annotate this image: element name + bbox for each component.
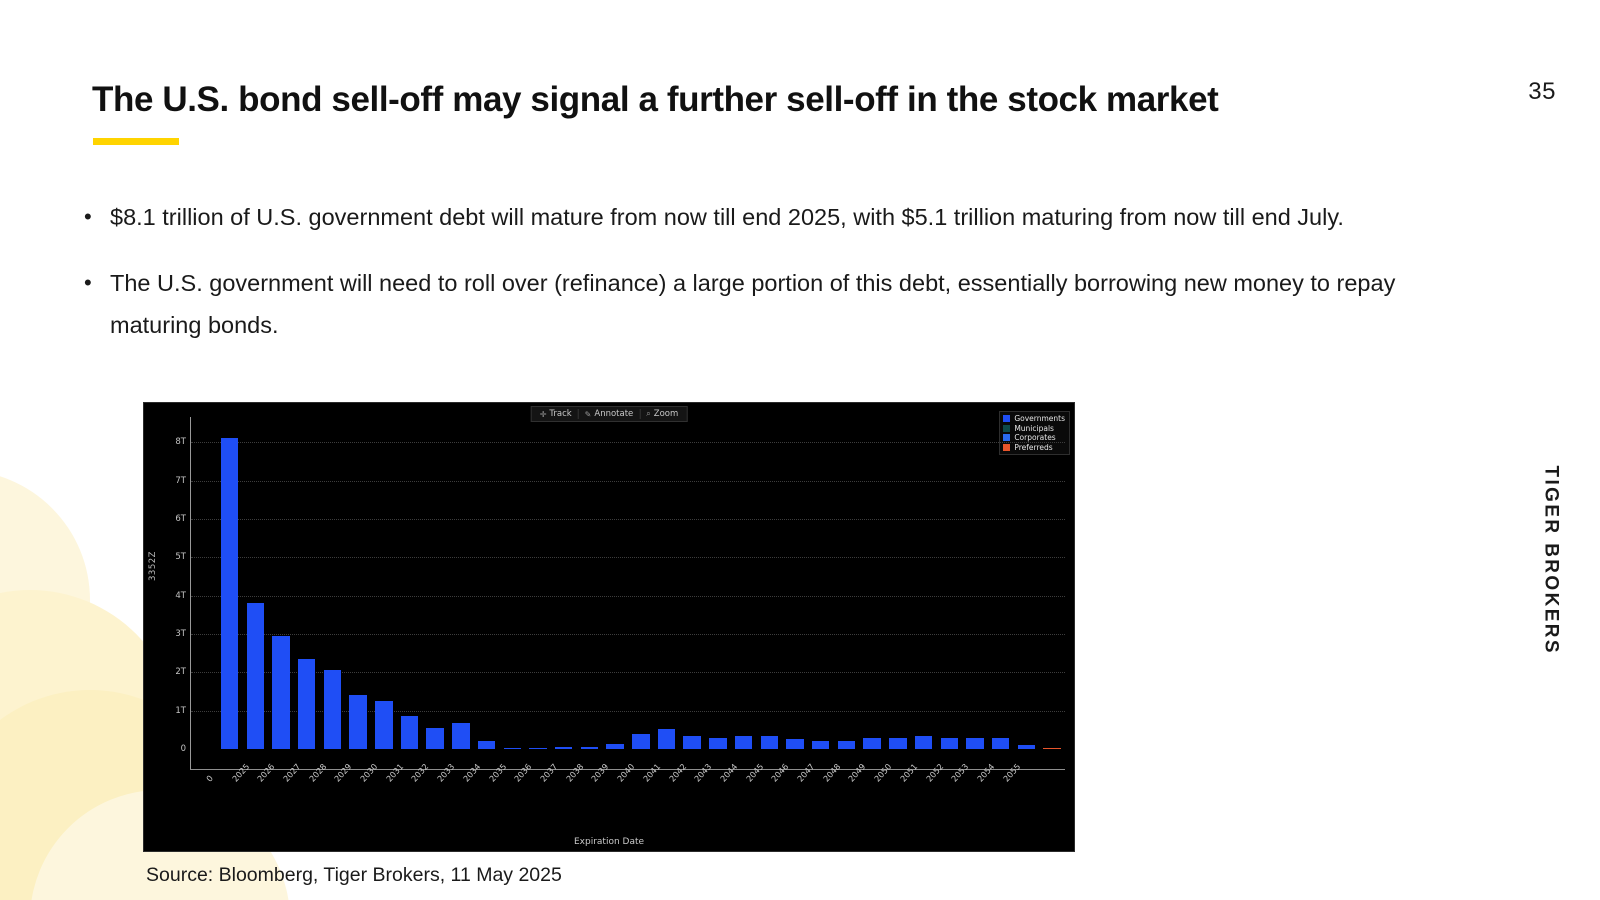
bullet-marker: • <box>84 196 110 238</box>
bar-slot[interactable] <box>782 423 808 749</box>
bar-slot[interactable] <box>242 423 268 749</box>
bullet-marker: • <box>84 262 110 346</box>
slide-root: 35 The U.S. bond sell-off may signal a f… <box>0 0 1600 900</box>
x-tick-slot: 2030 <box>345 773 371 821</box>
bar-slot[interactable] <box>679 423 705 749</box>
plot-area: 3352Z 8T7T6T5T4T3T2T1T0 0202520262027202… <box>144 403 1074 851</box>
x-tick-slot: 2051 <box>885 773 911 821</box>
bar[interactable] <box>478 741 495 749</box>
bar[interactable] <box>401 716 418 749</box>
bar[interactable] <box>838 741 855 749</box>
bullet-list: •$8.1 trillion of U.S. government debt w… <box>84 196 1414 370</box>
x-tick-slot: 2032 <box>397 773 423 821</box>
x-tick-slot: 2046 <box>756 773 782 821</box>
bar[interactable] <box>504 748 521 749</box>
bar[interactable] <box>812 741 829 749</box>
bullet-item: •$8.1 trillion of U.S. government debt w… <box>84 196 1414 238</box>
x-tick-slot: 2031 <box>371 773 397 821</box>
bar[interactable] <box>632 734 649 749</box>
x-tick-slot: 2049 <box>834 773 860 821</box>
bar-slot[interactable] <box>397 423 423 749</box>
bar-slot[interactable] <box>499 423 525 749</box>
bar[interactable] <box>941 738 958 749</box>
bar-slot[interactable] <box>448 423 474 749</box>
x-tick-slot: 0 <box>191 773 217 821</box>
bar[interactable] <box>1043 748 1060 749</box>
page-title: The U.S. bond sell-off may signal a furt… <box>92 80 1218 120</box>
x-axis-tick-labels: 0202520262027202820292030203120322033203… <box>191 773 1065 821</box>
y-axis-tick: 3T <box>175 629 186 639</box>
bar[interactable] <box>863 738 880 749</box>
x-tick-slot: 2040 <box>602 773 628 821</box>
bar-slot[interactable] <box>474 423 500 749</box>
x-tick-slot: 2029 <box>320 773 346 821</box>
bar-slot[interactable] <box>731 423 757 749</box>
x-tick-slot: 2045 <box>731 773 757 821</box>
bar[interactable] <box>375 701 392 749</box>
x-tick-slot: 2036 <box>499 773 525 821</box>
x-tick-slot: 2038 <box>551 773 577 821</box>
x-tick-slot: 2050 <box>859 773 885 821</box>
x-tick-slot: 2037 <box>525 773 551 821</box>
bar[interactable] <box>992 738 1009 750</box>
x-tick-slot: 2035 <box>474 773 500 821</box>
bar[interactable] <box>709 738 726 750</box>
bar-slot[interactable] <box>268 423 294 749</box>
y-axis-tick: 6T <box>175 514 186 524</box>
bar[interactable] <box>221 438 238 749</box>
bar[interactable] <box>1018 745 1035 749</box>
chart-corner-code: 3352Z <box>148 551 158 581</box>
x-tick-slot: 2048 <box>808 773 834 821</box>
x-tick-slot <box>1014 773 1040 821</box>
bar-slot[interactable] <box>911 423 937 749</box>
x-tick-slot: 2055 <box>988 773 1014 821</box>
bullet-item: •The U.S. government will need to roll o… <box>84 262 1414 346</box>
bullet-text: $8.1 trillion of U.S. government debt wi… <box>110 196 1344 238</box>
bar-slot[interactable] <box>628 423 654 749</box>
bar[interactable] <box>889 738 906 750</box>
bar-slot[interactable] <box>808 423 834 749</box>
bar-slot[interactable] <box>988 423 1014 749</box>
bar[interactable] <box>555 747 572 749</box>
bar-slot[interactable] <box>525 423 551 749</box>
bar[interactable] <box>324 670 341 749</box>
bar-slot[interactable] <box>320 423 346 749</box>
x-tick-slot: 2028 <box>294 773 320 821</box>
bar-slot[interactable] <box>191 423 217 749</box>
bar-slot[interactable] <box>756 423 782 749</box>
bar[interactable] <box>786 739 803 749</box>
bar-slot[interactable] <box>217 423 243 749</box>
bar[interactable] <box>426 728 443 749</box>
x-tick-slot: 2042 <box>654 773 680 821</box>
bar[interactable] <box>658 729 675 749</box>
bar-slot[interactable] <box>294 423 320 749</box>
bar-slot[interactable] <box>654 423 680 749</box>
bar[interactable] <box>761 736 778 749</box>
x-tick-slot: 2041 <box>628 773 654 821</box>
bar[interactable] <box>529 748 546 749</box>
y-axis-tick: 7T <box>175 476 186 486</box>
x-tick-slot: 2025 <box>217 773 243 821</box>
x-tick-slot: 2053 <box>936 773 962 821</box>
bar[interactable] <box>735 736 752 749</box>
x-tick-slot: 2052 <box>911 773 937 821</box>
source-note: Source: Bloomberg, Tiger Brokers, 11 May… <box>146 864 562 887</box>
y-axis-tick: 1T <box>175 706 186 716</box>
x-tick-slot: 2033 <box>422 773 448 821</box>
bar[interactable] <box>247 603 264 749</box>
bar-slot[interactable] <box>1039 423 1065 749</box>
y-axis-tick: 8T <box>175 437 186 447</box>
bar[interactable] <box>966 738 983 749</box>
x-tick-slot: 2026 <box>242 773 268 821</box>
decorative-circle-1 <box>0 470 90 730</box>
bar-slot[interactable] <box>834 423 860 749</box>
x-tick-slot: 2044 <box>705 773 731 821</box>
bar-series-container <box>191 423 1065 749</box>
bar[interactable] <box>452 723 469 749</box>
bar[interactable] <box>915 736 932 749</box>
bloomberg-chart-panel: ✛Track✎Annotate⌕Zoom GovernmentsMunicipa… <box>143 402 1075 852</box>
x-tick-slot: 2027 <box>268 773 294 821</box>
bar-slot[interactable] <box>577 423 603 749</box>
y-axis-tick: 2T <box>175 667 186 677</box>
bar[interactable] <box>349 695 366 749</box>
bar-slot[interactable] <box>859 423 885 749</box>
bar-slot[interactable] <box>962 423 988 749</box>
x-tick-slot: 2034 <box>448 773 474 821</box>
y-axis-tick-labels: 8T7T6T5T4T3T2T1T0 <box>160 423 188 763</box>
bar-slot[interactable] <box>551 423 577 749</box>
y-axis-tick: 0 <box>181 744 186 754</box>
x-axis-title: Expiration Date <box>144 837 1074 847</box>
x-tick-slot <box>1039 773 1065 821</box>
page-number: 35 <box>1528 78 1556 106</box>
x-tick-slot: 2047 <box>782 773 808 821</box>
bar[interactable] <box>606 744 623 749</box>
bar[interactable] <box>683 736 700 749</box>
bullet-text: The U.S. government will need to roll ov… <box>110 262 1414 346</box>
bar-slot[interactable] <box>345 423 371 749</box>
title-underline-accent <box>93 138 179 145</box>
y-axis-tick: 5T <box>175 552 186 562</box>
bar-slot[interactable] <box>371 423 397 749</box>
bar[interactable] <box>581 747 598 749</box>
x-tick-slot: 2043 <box>679 773 705 821</box>
bar-slot[interactable] <box>602 423 628 749</box>
bar-slot[interactable] <box>1014 423 1040 749</box>
bar[interactable] <box>298 659 315 749</box>
y-axis-tick: 4T <box>175 591 186 601</box>
bar-slot[interactable] <box>705 423 731 749</box>
bar-slot[interactable] <box>885 423 911 749</box>
brand-wordmark: TIGER BROKERS <box>1540 465 1562 655</box>
x-axis-tick: 0 <box>204 773 215 784</box>
bar-slot[interactable] <box>936 423 962 749</box>
bar-slot[interactable] <box>422 423 448 749</box>
bar[interactable] <box>272 636 289 749</box>
x-tick-slot: 2054 <box>962 773 988 821</box>
x-tick-slot: 2039 <box>577 773 603 821</box>
